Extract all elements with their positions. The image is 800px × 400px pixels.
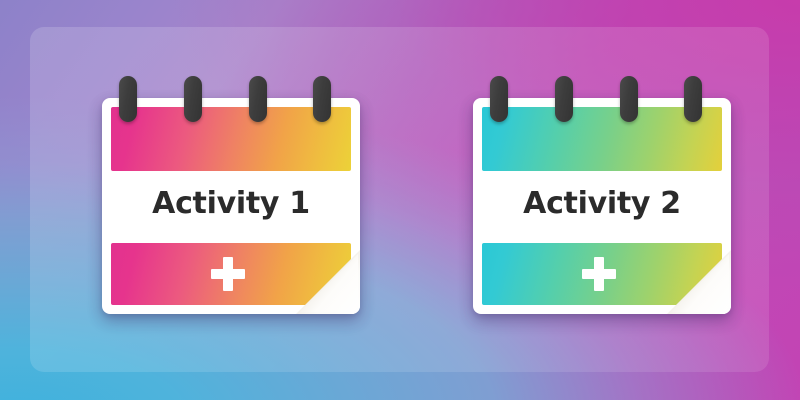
card-title-band: Activity 2 (473, 171, 731, 237)
screenshot-canvas: Activity 1 Activity 2 (0, 0, 800, 400)
page-title: Activity 1 (152, 189, 310, 219)
card-header-bar (111, 107, 351, 171)
add-activity-button[interactable] (111, 243, 351, 305)
activity-card-1-body[interactable]: Activity 1 (102, 98, 360, 314)
page-title: Activity 2 (523, 189, 681, 219)
plus-icon[interactable] (211, 257, 245, 291)
add-activity-button[interactable] (482, 243, 722, 305)
card-title-band: Activity 1 (102, 171, 360, 237)
activity-card-2[interactable]: Activity 2 (473, 98, 731, 314)
card-header-bar (482, 107, 722, 171)
activity-card-1[interactable]: Activity 1 (102, 98, 360, 314)
plus-icon[interactable] (582, 257, 616, 291)
activity-card-2-body[interactable]: Activity 2 (473, 98, 731, 314)
